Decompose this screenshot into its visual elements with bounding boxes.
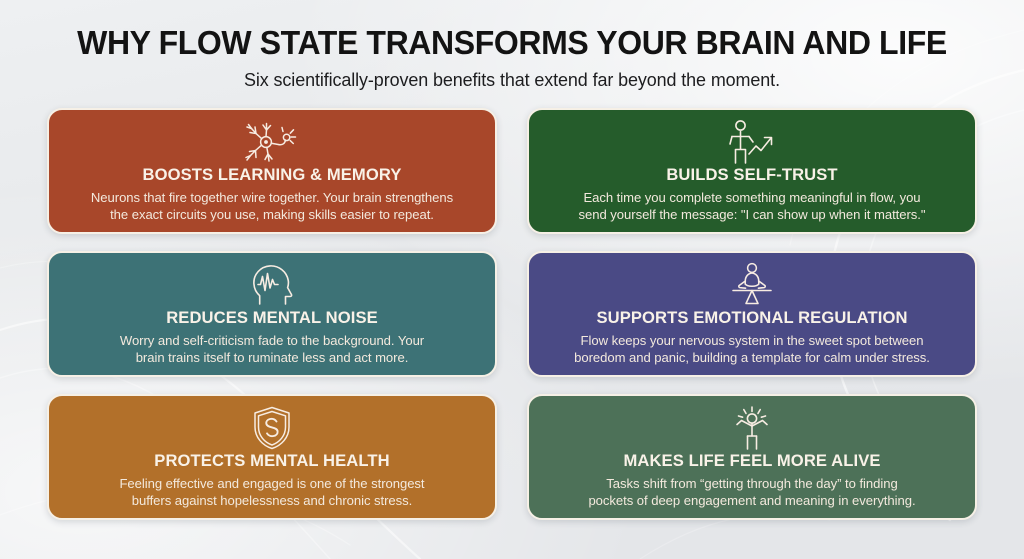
card-title: MAKES LIFE FEEL MORE ALIVE <box>623 452 880 471</box>
card-body: Each time you complete something meaning… <box>579 189 926 224</box>
card-body-line: Tasks shift from “getting through the da… <box>588 475 915 492</box>
card-body-line: Neurons that fire together wire together… <box>91 189 453 206</box>
benefit-card-supports-emotional-regulation[interactable]: SUPPORTS EMOTIONAL REGULATION Flow keeps… <box>527 251 977 377</box>
person-growth-arrow-icon <box>724 119 780 166</box>
card-title: PROTECTS MENTAL HEALTH <box>154 452 389 471</box>
card-body: Tasks shift from “getting through the da… <box>588 475 915 510</box>
card-body-line: the exact circuits you use, making skill… <box>91 206 453 223</box>
card-body-line: Worry and self-criticism fade to the bac… <box>120 332 424 349</box>
card-body-line: buffers against hopelessness and chronic… <box>119 492 424 509</box>
card-body: Feeling effective and engaged is one of … <box>119 475 424 510</box>
card-body-line: brain trains itself to ruminate less and… <box>120 349 424 366</box>
benefit-card-boosts-learning-memory[interactable]: BOOSTS LEARNING & MEMORY Neurons that fi… <box>47 108 497 234</box>
infographic-page: WHY FLOW STATE TRANSFORMS YOUR BRAIN AND… <box>0 0 1024 559</box>
card-title: SUPPORTS EMOTIONAL REGULATION <box>596 309 907 328</box>
neuron-icon <box>241 119 303 166</box>
benefit-card-protects-mental-health[interactable]: PROTECTS MENTAL HEALTH Feeling effective… <box>47 394 497 520</box>
page-title: WHY FLOW STATE TRANSFORMS YOUR BRAIN AND… <box>23 26 1001 62</box>
card-body: Worry and self-criticism fade to the bac… <box>120 332 424 367</box>
card-body-line: Feeling effective and engaged is one of … <box>119 475 424 492</box>
header: WHY FLOW STATE TRANSFORMS YOUR BRAIN AND… <box>0 0 1024 91</box>
card-title: BUILDS SELF-TRUST <box>666 166 837 185</box>
card-body: Flow keeps your nervous system in the sw… <box>574 332 930 367</box>
card-body: Neurons that fire together wire together… <box>91 189 453 224</box>
benefit-card-builds-self-trust[interactable]: BUILDS SELF-TRUST Each time you complete… <box>527 108 977 234</box>
card-title: BOOSTS LEARNING & MEMORY <box>143 166 402 185</box>
card-body-line: Flow keeps your nervous system in the sw… <box>574 332 930 349</box>
benefit-card-grid: BOOSTS LEARNING & MEMORY Neurons that fi… <box>47 108 977 520</box>
benefit-card-reduces-mental-noise[interactable]: REDUCES MENTAL NOISE Worry and self-crit… <box>47 251 497 377</box>
card-body-line: Each time you complete something meaning… <box>579 189 926 206</box>
joyful-person-rays-icon <box>726 405 778 452</box>
head-brainwaves-icon <box>247 262 297 309</box>
card-title: REDUCES MENTAL NOISE <box>166 309 378 328</box>
card-body-line: boredom and panic, building a template f… <box>574 349 930 366</box>
page-subtitle: Six scientifically-proven benefits that … <box>15 69 1008 91</box>
benefit-card-makes-life-feel-more-alive[interactable]: MAKES LIFE FEEL MORE ALIVE Tasks shift f… <box>527 394 977 520</box>
shield-s-icon <box>251 405 293 452</box>
card-body-line: send yourself the message: "I can show u… <box>579 206 926 223</box>
card-body-line: pockets of deep engagement and meaning i… <box>588 492 915 509</box>
meditating-balance-icon <box>723 262 781 309</box>
